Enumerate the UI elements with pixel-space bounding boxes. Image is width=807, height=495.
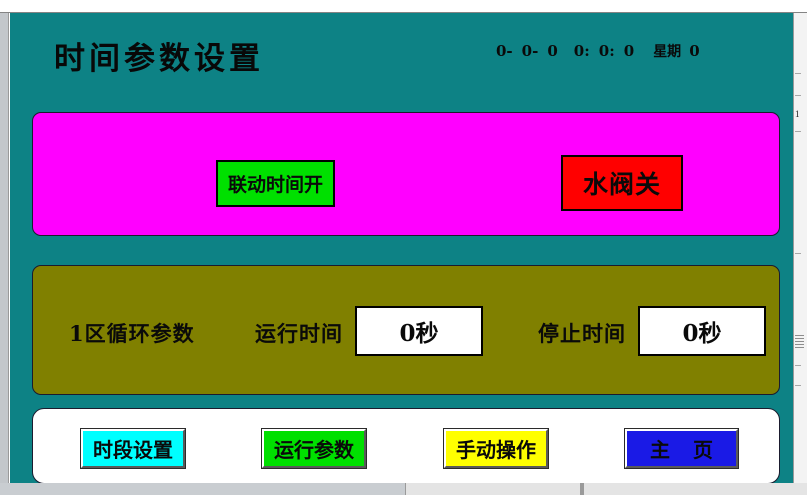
run-time-label: 运行时间 [255,318,343,348]
zone-cycle-label: 1区循环参数 [69,318,195,348]
datetime-second: 0 [624,42,634,60]
stop-time-input[interactable]: 0秒 [638,306,766,356]
cycle-parameter-panel: 1区循环参数 运行时间 0秒 停止时间 0秒 [32,265,780,395]
datetime-minute: 0: [599,42,615,60]
water-valve-toggle-button[interactable]: 水阀关 [561,155,683,211]
background-window-sliver[interactable]: 1 [793,13,807,483]
weekday-label: 星期 [653,41,681,61]
background-tick [795,365,801,366]
datetime-hour: 0: [574,42,590,60]
background-tick [795,385,801,386]
datetime-day: 0 [547,42,557,60]
datetime-month: 0- [522,42,539,60]
linkage-time-toggle-button[interactable]: 联动时间开 [216,160,335,207]
weekday-value: 0 [689,42,699,60]
background-tick [795,73,801,74]
background-tick [795,131,801,132]
background-tick [795,253,801,254]
window-left-rail [0,13,9,483]
status-panel: 联动时间开 水阀关 [32,112,780,236]
taskbar-divider [580,483,584,495]
run-time-input[interactable]: 0秒 [355,306,483,356]
window-top-strip [0,0,807,13]
nav-button-manual-operation[interactable]: 手动操作 [444,429,548,468]
page-title: 时间参数设置 [54,33,264,78]
nav-button-period-settings[interactable]: 时段设置 [81,429,185,468]
datetime-year: 0- [496,42,513,60]
nav-button-run-parameters[interactable]: 运行参数 [262,429,366,468]
datetime-display: 0- 0- 0 0: 0: 0 星期 0 [496,41,776,61]
background-hatch-pattern [795,335,804,349]
taskbar-segment [405,483,807,495]
hmi-screen: 时间参数设置 0- 0- 0 0: 0: 0 星期 0 联动时间开 水阀关 1区… [10,13,793,483]
navigation-panel: 时段设置 运行参数 手动操作 主 页 [32,408,780,483]
background-tick [795,95,801,96]
nav-button-home[interactable]: 主 页 [625,429,738,468]
desktop: 1 时间参数设置 0- 0- 0 0: 0: 0 星期 0 联动时间开 水阀关 … [0,0,807,495]
background-window-glyph: 1 [795,109,800,119]
stop-time-label: 停止时间 [538,318,626,348]
